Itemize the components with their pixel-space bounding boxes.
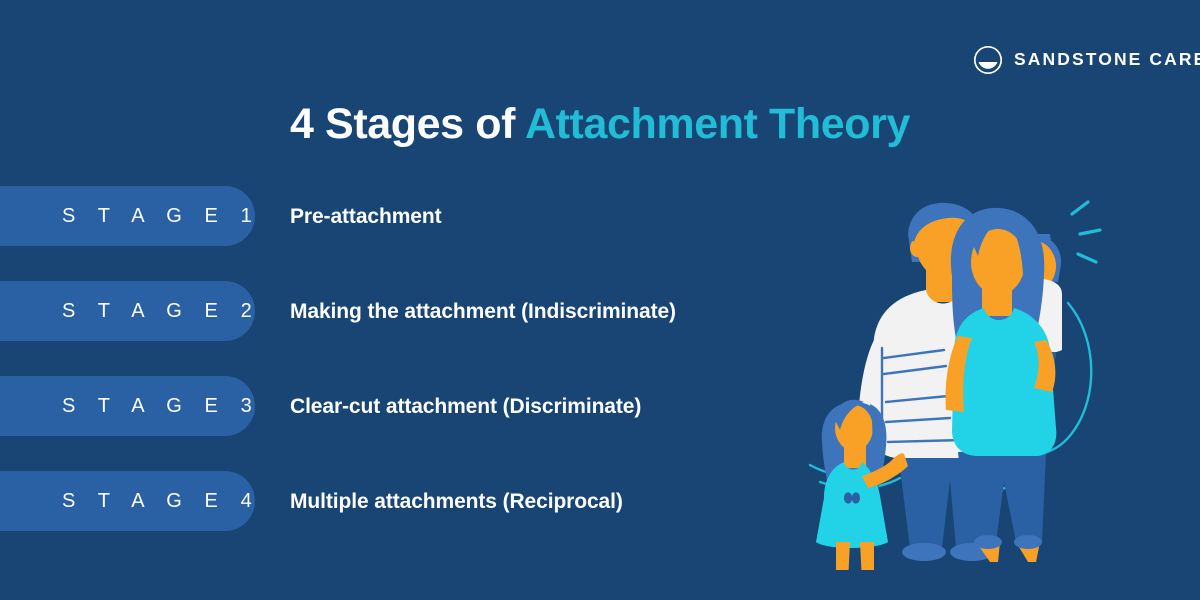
stage-description-4: Multiple attachments (Reciprocal) [290,471,623,531]
father-shoe-left [902,543,946,561]
stage-pill-label-2: S T A G E 2 [0,301,260,321]
stage-description-2: Making the attachment (Indiscriminate) [290,281,676,341]
family-illustration [800,190,1140,570]
stage-pill-3[interactable]: S T A G E 3 [0,376,255,436]
page-title-accent: Attachment Theory [525,100,910,148]
brand-name: SANDSTONE CARE [1014,51,1200,69]
stage-description-3: Clear-cut attachment (Discriminate) [290,376,641,436]
brand-logo: SANDSTONE CARE [973,44,1200,76]
girl-leg-right [860,542,874,570]
page-title-lead: 4 Stages of [290,100,525,148]
stage-description-1: Pre-attachment [290,186,441,246]
page-title: 4 Stages of Attachment Theory [0,100,1200,149]
family-illustration-art [800,190,1140,570]
stage-pill-label-1: S T A G E 1 [0,206,260,226]
sandstone-circle-icon [973,45,1003,75]
infographic-canvas: SANDSTONE CARE 4 Stages of Attachment Th… [0,0,1200,600]
stage-pill-label-3: S T A G E 3 [0,396,260,416]
mother-pants [958,452,1046,542]
stage-pill-1[interactable]: S T A G E 1 [0,186,255,246]
stage-pill-label-4: S T A G E 4 [0,491,260,511]
stage-pill-2[interactable]: S T A G E 2 [0,281,255,341]
stage-pill-4[interactable]: S T A G E 4 [0,471,255,531]
girl-leg-left [836,542,850,570]
sparkle-lines [1072,202,1100,262]
